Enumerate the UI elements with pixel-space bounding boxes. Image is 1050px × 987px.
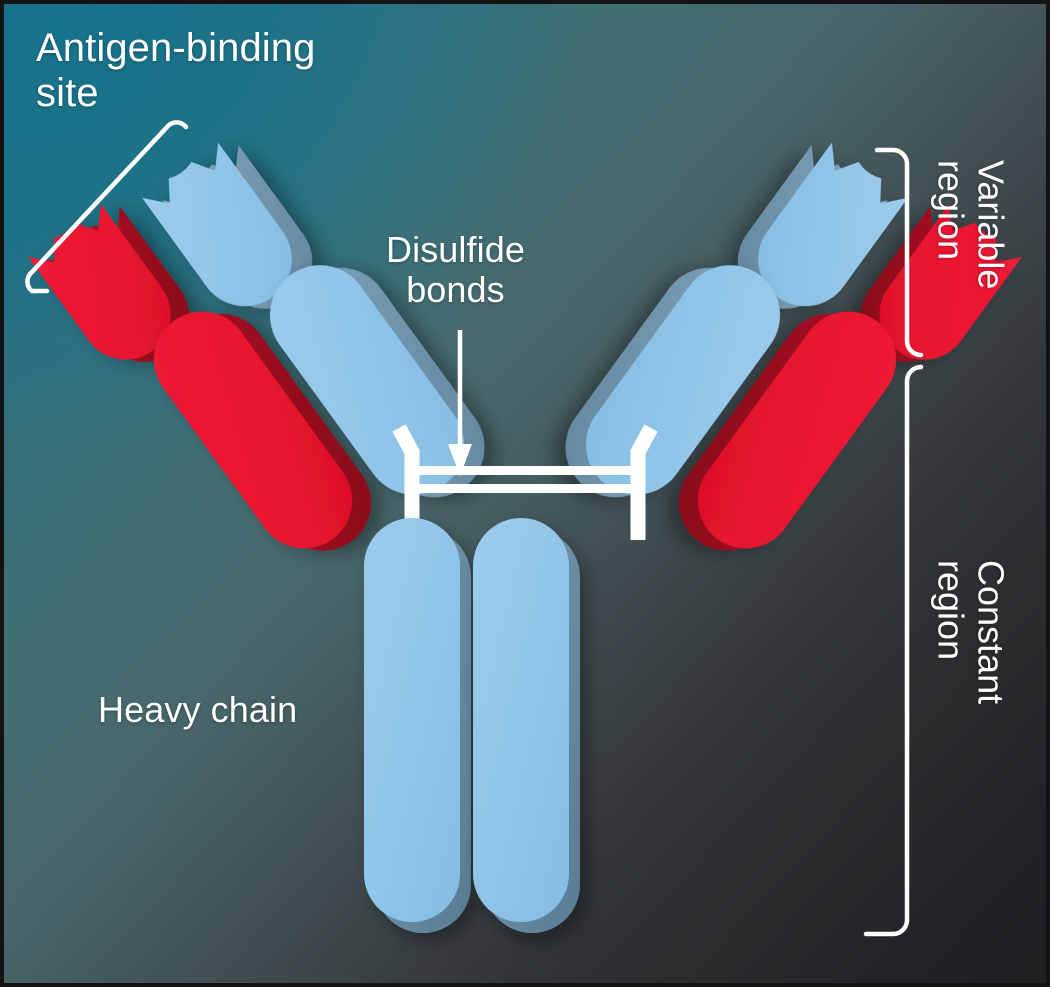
variable-region-label: Variable region <box>930 160 1011 289</box>
heavy-chain-fc-stem-right <box>473 518 580 933</box>
heavy-chain-label: Heavy chain <box>98 690 297 730</box>
antibody-diagram-figure: Antigen-binding site Disulfide bonds Hea… <box>0 0 1050 987</box>
constant-region-label: Constant region <box>930 560 1011 704</box>
antibody-illustration <box>0 0 1050 987</box>
constant-region-bracket <box>866 367 921 934</box>
antigen-binding-site-label: Antigen-binding site <box>36 26 316 116</box>
heavy-chain-fc-stem-left <box>364 518 471 933</box>
disulfide-bond-lower <box>412 484 638 493</box>
disulfide-bond-upper <box>412 466 638 475</box>
disulfide-bonds-label: Disulfide bonds <box>386 230 525 311</box>
